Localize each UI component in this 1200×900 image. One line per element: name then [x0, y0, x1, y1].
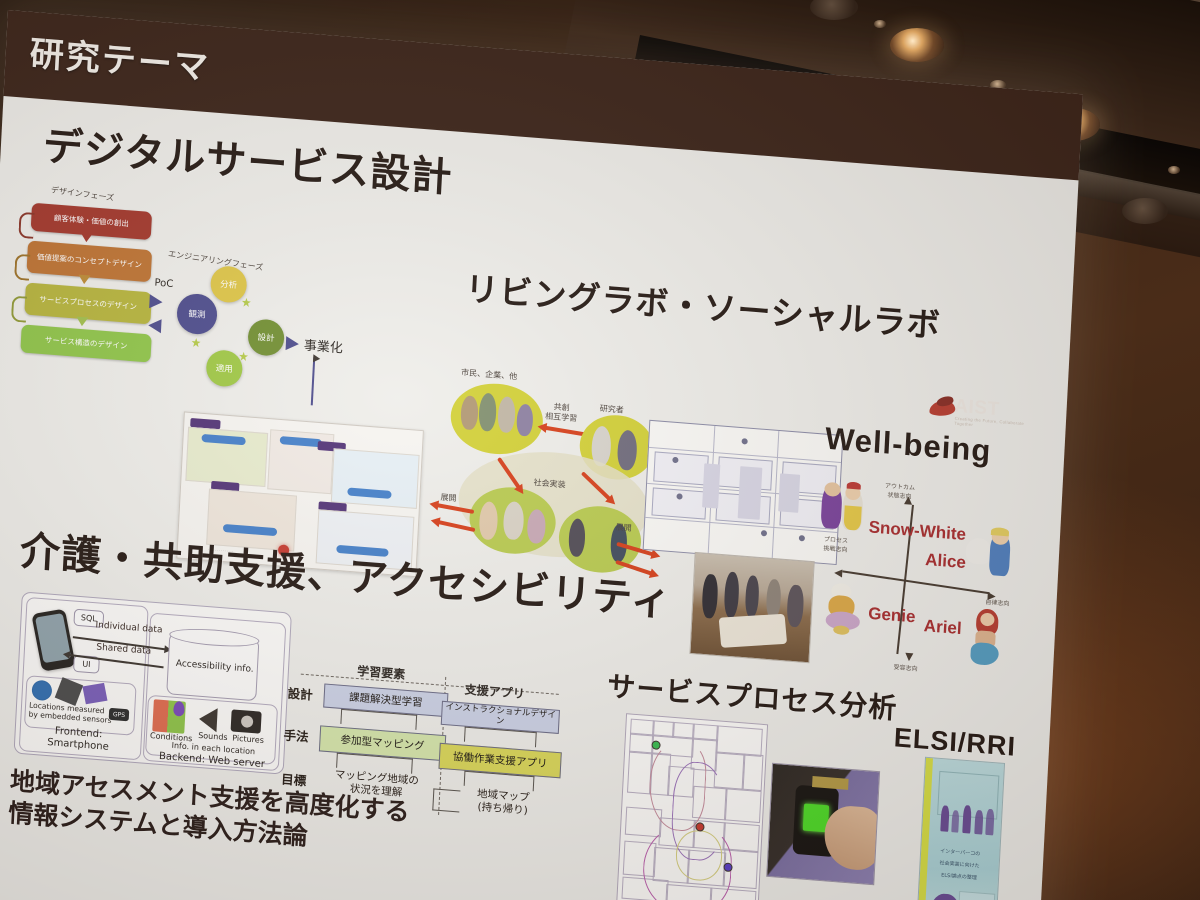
feedback-hook-icon	[11, 295, 27, 322]
label-researcher: 研究者	[599, 403, 624, 416]
canvas-person-icon	[761, 530, 767, 536]
axis-label-outcome-text: アウトカム	[885, 482, 915, 491]
axis-label-right-sub: 自律志向	[985, 597, 1009, 608]
goal-merge-arrow-icon	[432, 788, 460, 812]
cover-foreground-silhouette	[926, 893, 963, 900]
floorplan-room	[742, 754, 764, 792]
row-label-method: 手法	[283, 724, 309, 745]
section-title-digital-service-design: デジタルサービス設計	[42, 113, 454, 203]
workshop-photo	[689, 552, 814, 663]
map-pin-icon	[173, 701, 185, 717]
ceiling-diffuser-icon	[1122, 198, 1168, 224]
col-header-learning-element: 学習要素	[357, 662, 406, 683]
photo-table	[719, 614, 788, 648]
commercialization-arrow-icon	[286, 336, 300, 351]
axis-label-outcome-sub: 状態志向	[887, 492, 911, 501]
flow-arrow-icon	[80, 233, 92, 243]
canvas-note	[702, 463, 720, 508]
poc-arrow-left-icon	[148, 318, 162, 333]
canvas-note	[778, 473, 800, 513]
col-header-support-app: 支援アプリ	[464, 680, 525, 702]
ceiling-small-light-icon	[1168, 166, 1180, 174]
photo-person	[744, 575, 759, 618]
quadrant-label-ariel: Ariel	[923, 616, 962, 639]
label-stakeholders: 市民、企業、他	[461, 367, 518, 382]
cover-silhouette	[974, 810, 983, 835]
cycle-node-analyze: 分析	[210, 265, 248, 304]
character-ariel-icon	[968, 608, 1011, 667]
flow-arrow-icon	[76, 317, 88, 327]
cycle-node-apply: 適用	[205, 349, 243, 388]
label-commercialization: 事業化	[303, 334, 343, 356]
label-frontend: Frontend:Smartphone	[47, 725, 110, 753]
cover-silhouette	[951, 810, 959, 833]
aist-tagline: Creating the Future, Collaborate Togethe…	[954, 416, 1025, 431]
cover-screen-shape	[957, 891, 996, 900]
character-genie-icon	[823, 582, 870, 637]
photo-person	[702, 574, 718, 619]
label-poc: PoC	[154, 278, 173, 290]
character-alice-icon	[965, 527, 1013, 579]
cycle-node-observe: 観測	[176, 292, 218, 335]
label-deployment: 展開	[440, 492, 457, 504]
business-model-canvas	[643, 420, 844, 565]
canvas-cell	[651, 487, 706, 519]
axis-arrow-down-icon	[905, 653, 913, 662]
cycle-connector-icon	[191, 338, 200, 348]
ceiling-small-light-icon	[874, 20, 886, 28]
photo-scene: 研究テーマ デジタルサービス設計 デザインフェーズ エンジニアリングフェーズ 顧…	[0, 0, 1200, 900]
book-spine	[916, 758, 933, 900]
cycle-connector-icon	[242, 297, 251, 307]
axis-label-bottom-sub: 受容志向	[893, 662, 917, 673]
quadrant-label-snow-white: Snow-White	[868, 517, 966, 545]
label-design-phase: デザインフェーズ	[50, 184, 114, 203]
flow-box-service-structure: サービス構造のデザイン	[20, 324, 151, 362]
goal-text-local-map: 地域マップ(持ち帰り)	[452, 786, 553, 819]
speaker-sounds-icon	[198, 707, 217, 732]
feedback-hook-icon	[18, 212, 34, 239]
axis-label-process: プロセス 挑戦志向	[823, 534, 848, 554]
gps-tag: GPS	[109, 708, 130, 722]
canvas-note	[738, 466, 763, 520]
section-title-living-lab: リビングラボ・ソーシャルラボ	[464, 262, 942, 347]
poc-arrow-right-icon	[149, 294, 163, 309]
photo-person	[723, 571, 740, 618]
wearable-device-photo	[766, 763, 880, 885]
quadrant-name-ariel: Ariel	[923, 616, 962, 638]
axis-label-outcome: アウトカム 状態志向	[884, 480, 915, 500]
row-label-design: 設計	[287, 683, 313, 704]
projected-slide: 研究テーマ デジタルサービス設計 デザインフェーズ エンジニアリングフェーズ 顧…	[0, 10, 1083, 900]
cover-line-1: インターパーコの	[921, 846, 999, 859]
storyboard-cell	[331, 448, 420, 509]
axis-arrow-left-icon	[834, 569, 842, 578]
axis-label-process-text: プロセス	[824, 536, 848, 545]
cover-line-2: 社会実装に向けた	[920, 858, 998, 871]
quadrant-name-alice: Alice	[925, 550, 967, 572]
canvas-cell	[653, 451, 709, 485]
quadrant-label-alice: Alice	[925, 550, 967, 573]
label-co-creation: 共創相互学習	[545, 402, 578, 424]
photo-person	[787, 584, 805, 627]
elsi-report-cover: インターパーコの 社会実装に向けた ELSI論点の整理	[915, 757, 1005, 900]
cycle-node-design: 設計	[247, 318, 285, 357]
feedback-hook-icon	[14, 254, 30, 281]
ceiling-downlight-icon	[890, 28, 944, 62]
floorplan-room	[724, 788, 762, 823]
canvas-person-icon	[742, 438, 748, 444]
cover-silhouette	[962, 805, 971, 834]
commercialization-connector	[311, 357, 315, 405]
section-title-elsi-rri: ELSI/RRI	[893, 722, 1017, 763]
accessibility-system-diagram: SQL UI Individual data Shared data Acces…	[14, 591, 292, 774]
cover-line-3: ELSI論点の整理	[920, 870, 998, 883]
canvas-person-icon	[799, 535, 805, 541]
photo-hand	[823, 804, 880, 871]
cover-silhouette	[985, 809, 994, 836]
character-snow-white-icon	[820, 480, 867, 533]
quadrant-name-snow-white: Snow-White	[868, 517, 966, 544]
quadrant-name-genie: Genie	[868, 604, 916, 627]
floorplan-trace-map	[615, 713, 768, 900]
quadrant-label-genie: Genie	[868, 604, 916, 628]
flow-arrow-icon	[78, 275, 90, 285]
cover-silhouette	[940, 805, 949, 832]
satellite-icon	[82, 683, 107, 704]
label-deployment: 展開	[615, 522, 632, 534]
